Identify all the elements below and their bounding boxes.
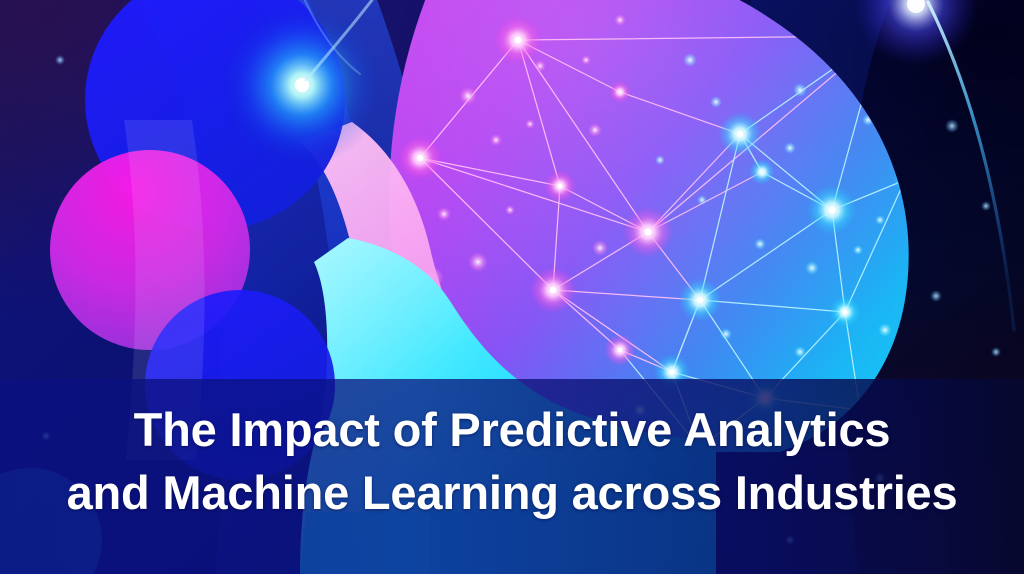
banner-image: The Impact of Predictive Analytics and M…: [0, 0, 1024, 574]
text-overlay-band: [0, 0, 1024, 574]
